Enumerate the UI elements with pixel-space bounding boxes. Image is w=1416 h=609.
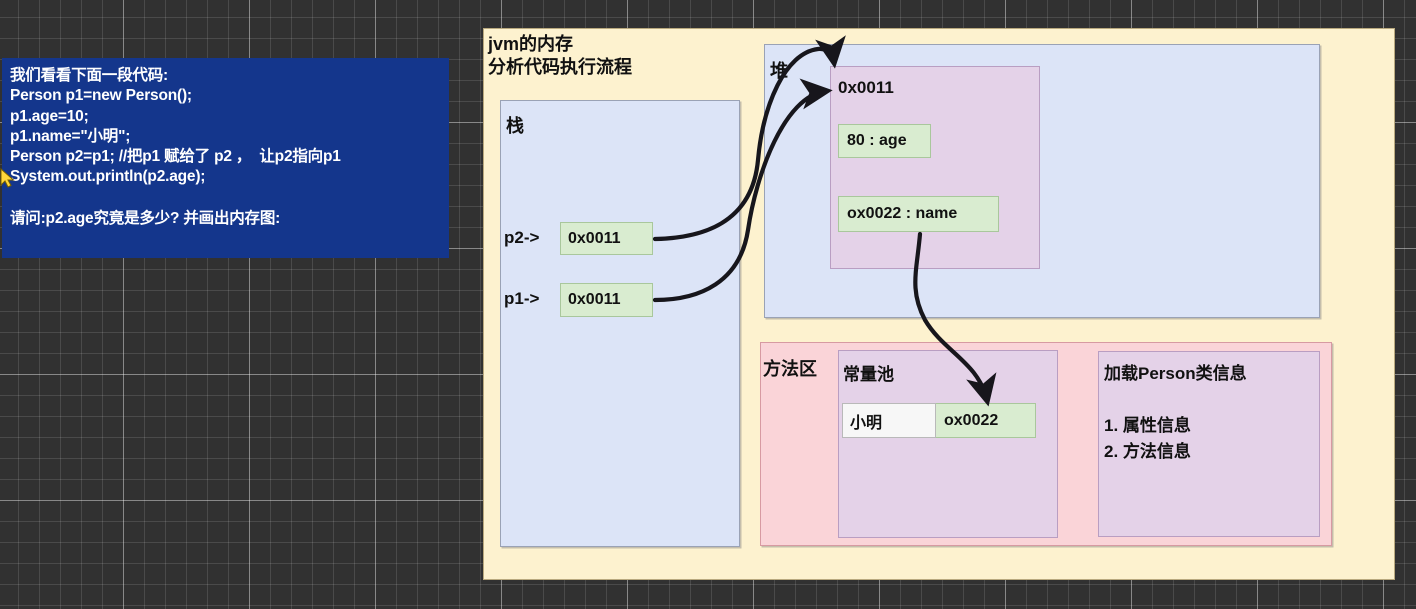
class-info-item-0: 1. 属性信息 bbox=[1104, 416, 1191, 435]
stack-panel bbox=[500, 100, 740, 547]
heap-field-name: ox0022 : name bbox=[838, 196, 999, 232]
code-line-4: Person p2=p1; //把p1 赋给了 p2 ， 让p2指向p1 bbox=[10, 147, 449, 167]
diagram-title-line1: jvm的内存 bbox=[488, 34, 573, 54]
code-line-1: Person p1=new Person(); bbox=[10, 86, 449, 106]
class-info-text: 加载Person类信息 1. 属性信息 2. 方法信息 bbox=[1104, 361, 1247, 465]
class-info-item-1: 2. 方法信息 bbox=[1104, 442, 1191, 461]
method-area-label: 方法区 bbox=[763, 355, 817, 381]
code-question: 请问:p2.age究竟是多少? 并画出内存图: bbox=[10, 209, 449, 229]
code-line-0: 我们看看下面一段代码: bbox=[10, 66, 449, 86]
class-info-title: 加载Person类信息 bbox=[1104, 364, 1247, 383]
mouse-cursor-icon bbox=[0, 168, 16, 188]
stack-frame-p2-value: 0x0011 bbox=[560, 222, 653, 255]
stack-frame-p2-label: p2-> bbox=[504, 228, 539, 248]
constant-pool-entry-value: ox0022 bbox=[936, 403, 1036, 438]
stack-frame-p1-label: p1-> bbox=[504, 289, 539, 309]
constant-pool-entry: 小明 ox0022 bbox=[842, 403, 1036, 438]
constant-pool-label: 常量池 bbox=[843, 360, 894, 385]
code-line-3: p1.name="小明"; bbox=[10, 127, 449, 147]
diagram-title-line2: 分析代码执行流程 bbox=[488, 57, 632, 77]
diagram-title: jvm的内存 分析代码执行流程 bbox=[488, 33, 632, 79]
heap-object-address: 0x0011 bbox=[838, 78, 894, 98]
code-note-box: 我们看看下面一段代码: Person p1=new Person(); p1.a… bbox=[2, 58, 449, 258]
canvas-root: 我们看看下面一段代码: Person p1=new Person(); p1.a… bbox=[0, 0, 1416, 609]
code-note-spacer bbox=[10, 188, 449, 209]
code-line-5: System.out.println(p2.age); bbox=[10, 167, 449, 187]
code-line-2: p1.age=10; bbox=[10, 107, 449, 127]
heap-field-age: 80 : age bbox=[838, 124, 931, 158]
heap-label: 堆 bbox=[770, 57, 788, 83]
stack-frame-p1-value: 0x0011 bbox=[560, 283, 653, 317]
stack-label: 栈 bbox=[506, 112, 524, 138]
constant-pool-entry-key: 小明 bbox=[842, 403, 936, 438]
